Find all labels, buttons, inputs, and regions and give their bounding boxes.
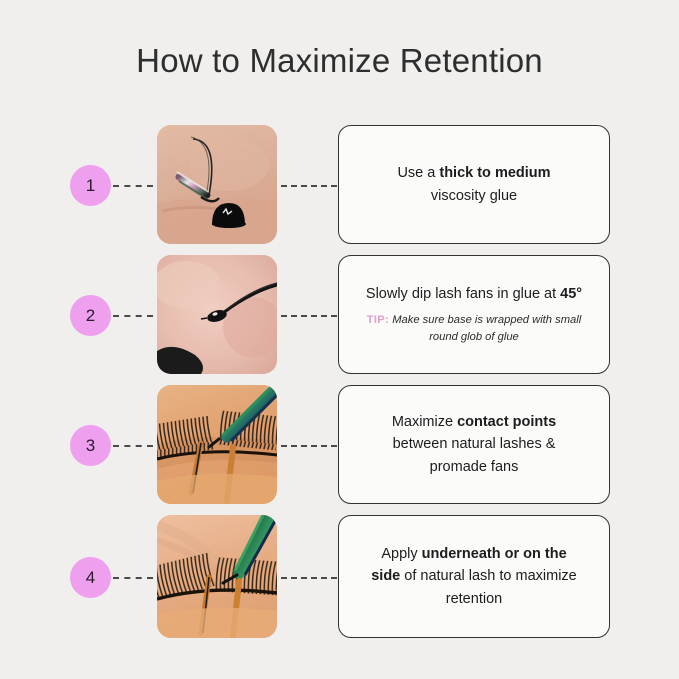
step-number-4: 4	[86, 569, 95, 586]
step-card-4: Apply underneath or on theside of natura…	[338, 515, 610, 638]
connector-badge-to-image-1	[113, 185, 153, 187]
connector-badge-to-image-4	[113, 577, 153, 579]
step-row-1: 1	[0, 125, 679, 245]
step-row-4: 4	[0, 515, 679, 640]
connector-image-to-card-1	[281, 185, 337, 187]
step-text-2: Slowly dip lash fans in glue at 45°	[366, 283, 582, 305]
infographic-page: How to Maximize Retention 1	[0, 0, 679, 679]
step-number-2: 2	[86, 307, 95, 324]
step-badge-3: 3	[70, 425, 111, 466]
connector-image-to-card-4	[281, 577, 337, 579]
step-image-3	[157, 385, 277, 504]
step-text-3: Maximize contact pointsbetween natural l…	[392, 411, 556, 478]
step-card-1: Use a thick to mediumviscosity glue	[338, 125, 610, 244]
connector-image-to-card-2	[281, 315, 337, 317]
step-text-1: Use a thick to mediumviscosity glue	[397, 162, 550, 207]
step-text-4: Apply underneath or on theside of natura…	[371, 543, 577, 610]
step-badge-4: 4	[70, 557, 111, 598]
connector-badge-to-image-3	[113, 445, 153, 447]
step-image-1	[157, 125, 277, 244]
step-row-2: 2	[0, 255, 679, 375]
step-card-2: Slowly dip lash fans in glue at 45° TIP:…	[338, 255, 610, 374]
step-badge-1: 1	[70, 165, 111, 206]
step-number-3: 3	[86, 437, 95, 454]
tip-text: Make sure base is wrapped with small rou…	[392, 314, 581, 343]
step-badge-2: 2	[70, 295, 111, 336]
page-title: How to Maximize Retention	[0, 42, 679, 80]
connector-image-to-card-3	[281, 445, 337, 447]
connector-badge-to-image-2	[113, 315, 153, 317]
step-image-4	[157, 515, 277, 638]
tip-label: TIP:	[367, 314, 389, 326]
step-tip-2: TIP: Make sure base is wrapped with smal…	[355, 312, 593, 346]
step-image-2	[157, 255, 277, 374]
step-number-1: 1	[86, 177, 95, 194]
step-card-3: Maximize contact pointsbetween natural l…	[338, 385, 610, 504]
step-row-3: 3	[0, 385, 679, 505]
